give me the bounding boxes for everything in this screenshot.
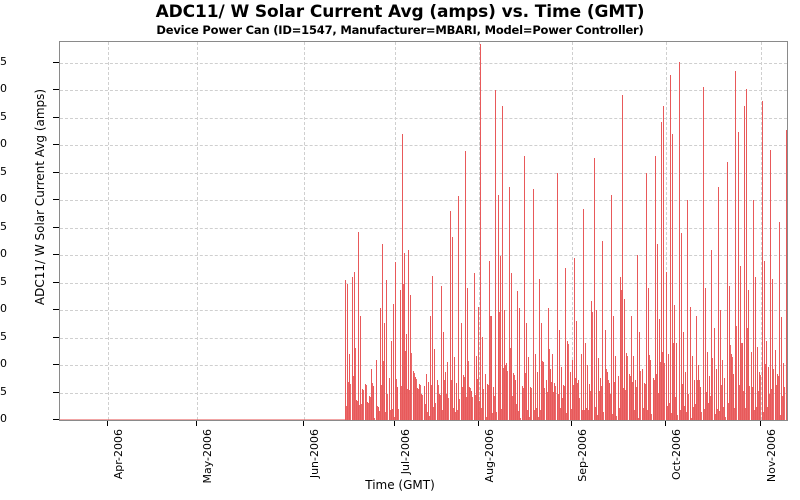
data-spike [520, 418, 521, 420]
data-spike [496, 412, 497, 420]
x-axis-tick-mark [107, 421, 108, 426]
data-spike [787, 301, 788, 420]
data-spike [448, 398, 449, 420]
data-spike [714, 328, 715, 420]
y-axis-tick-label: 1.00 [0, 303, 7, 314]
data-spike [583, 209, 584, 420]
data-spike [411, 353, 412, 420]
y-axis-tick-label: 2.75 [0, 111, 7, 122]
x-axis-tick-label: Jun-2006 [308, 429, 321, 478]
data-series-layer [60, 42, 787, 420]
data-spike [459, 399, 460, 420]
x-axis-tick-mark [571, 421, 572, 426]
data-spike [670, 75, 671, 420]
data-spike [646, 173, 647, 420]
data-spike [666, 272, 667, 420]
data-spike [373, 386, 374, 420]
data-spike [690, 307, 691, 420]
data-spike [441, 286, 442, 420]
data-spike [559, 330, 560, 420]
y-axis-tick-label: 0.25 [0, 386, 7, 397]
data-spike [744, 106, 745, 420]
data-spike [465, 151, 466, 420]
data-spike [679, 62, 680, 420]
data-spike [384, 323, 385, 420]
y-axis-tick-label: 0.00 [0, 413, 7, 424]
data-spike [358, 232, 359, 420]
data-spike [611, 195, 612, 420]
x-axis-tick-label: Jul-2006 [399, 429, 412, 474]
data-spike [687, 200, 688, 420]
data-spike [784, 387, 785, 420]
data-spike [528, 357, 529, 420]
data-spike [725, 417, 726, 420]
x-axis-tick-label: Oct-2006 [670, 429, 683, 480]
x-axis-tick-label: Nov-2006 [765, 429, 778, 482]
data-spike [495, 90, 496, 420]
data-spike [517, 291, 518, 420]
data-spike [622, 95, 623, 420]
data-spike [350, 384, 351, 420]
data-spike [565, 268, 566, 420]
x-axis-label: Time (GMT) [0, 478, 800, 492]
x-axis-tick-mark [196, 421, 197, 426]
data-spike [485, 374, 486, 420]
data-spike [393, 304, 394, 420]
x-axis-tick-mark [760, 421, 761, 426]
data-spike [770, 150, 771, 420]
data-spike [507, 371, 508, 420]
data-spike [363, 390, 364, 420]
data-spike [458, 196, 459, 420]
x-axis-tick-mark [394, 421, 395, 426]
y-axis-tick-label: 2.50 [0, 138, 7, 149]
data-spike [688, 394, 689, 420]
data-spike [712, 358, 713, 420]
data-spike [568, 344, 569, 420]
x-axis-tick-label: Apr-2006 [112, 429, 125, 479]
x-axis-tick-label: Aug-2006 [483, 429, 496, 482]
x-axis-tick-mark [665, 421, 666, 426]
data-spike [749, 386, 750, 420]
data-spike [533, 189, 534, 420]
data-spike [531, 388, 532, 420]
data-spike [557, 173, 558, 420]
data-spike [718, 187, 719, 420]
data-spike [398, 409, 399, 420]
x-axis-tick-label: Sep-2006 [576, 429, 589, 482]
y-axis-tick-label: 3.00 [0, 83, 7, 94]
data-spike [701, 412, 702, 420]
data-spike [452, 237, 453, 421]
x-axis-tick-mark [478, 421, 479, 426]
data-spike [374, 418, 375, 420]
data-spike [592, 312, 593, 420]
y-axis-tick-label: 2.00 [0, 193, 7, 204]
data-spike [579, 398, 580, 420]
data-spike [500, 256, 501, 420]
y-axis-tick-label: 0.50 [0, 358, 7, 369]
data-spike [596, 310, 597, 420]
data-spike [727, 162, 728, 420]
y-axis-label: ADC11/ W Solar Current Avg (amps) [33, 57, 47, 337]
data-spike [724, 378, 725, 420]
data-spike [454, 357, 455, 420]
data-spike [432, 276, 433, 420]
data-spike [615, 356, 616, 420]
y-axis-tick-label: 3.25 [0, 56, 7, 67]
data-spike [491, 316, 492, 420]
data-spike [345, 280, 346, 420]
y-axis-tick-label: 1.75 [0, 221, 7, 232]
data-spike [555, 386, 556, 420]
data-spike [603, 412, 604, 420]
data-spike [651, 414, 652, 420]
data-spike [773, 369, 774, 420]
data-spike [422, 395, 423, 420]
data-spike [387, 394, 388, 420]
y-axis-tick-label: 0.75 [0, 331, 7, 342]
data-spike [428, 382, 429, 420]
data-spike [640, 371, 641, 420]
x-axis-tick-mark [303, 421, 304, 426]
data-spike [435, 403, 436, 420]
data-spike [526, 323, 527, 420]
series-baseline [60, 419, 345, 420]
data-spike [736, 326, 737, 420]
chart-root: ADC11/ W Solar Current Avg (amps) vs. Ti… [0, 0, 800, 500]
data-spike [762, 101, 763, 420]
data-spike [594, 158, 595, 420]
data-spike [779, 222, 780, 420]
data-spike [755, 277, 756, 420]
chart-title: ADC11/ W Solar Current Avg (amps) vs. Ti… [0, 2, 800, 22]
y-axis-tick-label: 1.50 [0, 248, 7, 259]
data-spike [703, 87, 704, 420]
data-spike [760, 375, 761, 420]
chart-subtitle: Device Power Can (ID=1547, Manufacturer=… [0, 23, 800, 37]
data-spike [676, 343, 677, 420]
data-spike [544, 388, 545, 420]
data-spike [616, 416, 617, 420]
data-spike [738, 132, 739, 420]
data-spike [480, 44, 481, 420]
plot-area [59, 41, 788, 421]
data-spike [627, 356, 628, 420]
data-spike [664, 363, 665, 420]
data-spike [483, 389, 484, 420]
data-spike [677, 415, 678, 420]
y-axis-tick-label: 2.25 [0, 166, 7, 177]
data-spike [472, 397, 473, 420]
data-spike [519, 308, 520, 420]
data-spike [537, 372, 538, 420]
data-spike [602, 241, 603, 420]
data-spike [637, 255, 638, 420]
y-axis-tick-label: 1.25 [0, 276, 7, 287]
data-spike [539, 279, 540, 420]
data-spike [753, 200, 754, 420]
x-axis-tick-label: May-2006 [201, 429, 214, 484]
data-spike [650, 360, 651, 420]
